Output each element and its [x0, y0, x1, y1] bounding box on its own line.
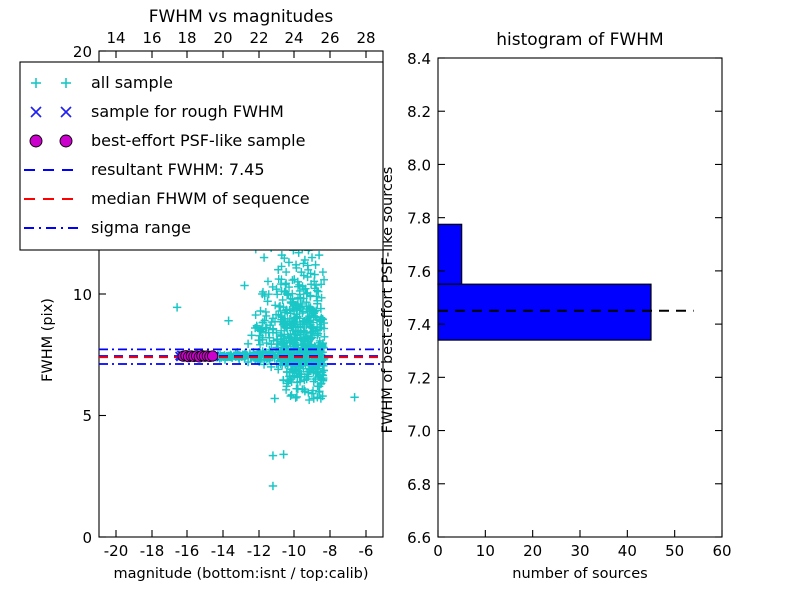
legend-box [20, 62, 383, 250]
bottom-tick-label: -6 [359, 542, 374, 560]
y-tick-label: 6.6 [407, 529, 431, 547]
legend-item-label: sigma range [91, 218, 191, 237]
top-tick-label: 16 [142, 29, 161, 47]
histogram-bar [438, 224, 462, 284]
legend-item-label: all sample [91, 73, 173, 92]
y-tick-label: 7.4 [407, 316, 431, 334]
figure-canvas: FWHM vs magnitudes 14 16 18 20 22 24 26 … [0, 0, 800, 600]
top-tick-label: 14 [106, 29, 125, 47]
top-tick-label: 24 [284, 29, 303, 47]
y-tick-label: 7.2 [407, 369, 431, 387]
y-tick-label: 8.4 [407, 50, 431, 68]
x-tick-label: 50 [665, 542, 684, 560]
top-tick-label: 20 [213, 29, 232, 47]
y-tick-label: 8.0 [407, 156, 431, 174]
bottom-tick-label: -10 [282, 542, 307, 560]
legend-item-label: resultant FWHM: 7.45 [91, 160, 265, 179]
left-panel-title: FWHM vs magnitudes [149, 7, 334, 27]
bottom-tick-label: -18 [140, 542, 165, 560]
left-x-axis-label: magnitude (bottom:isnt / top:calib) [113, 566, 368, 582]
legend-item-label: sample for rough FWHM [91, 102, 284, 121]
y-tick-label: 7.6 [407, 263, 431, 281]
y-tick-label: 8.2 [407, 103, 431, 121]
top-tick-label: 18 [177, 29, 196, 47]
right-panel-title: histogram of FWHM [496, 30, 663, 50]
y-tick-label: 10 [73, 286, 92, 304]
bottom-tick-label: -12 [247, 542, 272, 560]
y-tick-label: 0 [82, 529, 92, 547]
histogram-bar [438, 284, 651, 340]
x-tick-label: 0 [433, 542, 443, 560]
legend-item-label: best-effort PSF-like sample [91, 131, 305, 150]
top-tick-label: 26 [320, 29, 339, 47]
legend-item-label: median FHWM of sequence [91, 189, 310, 208]
x-tick-label: 30 [570, 542, 589, 560]
y-tick-label: 6.8 [407, 476, 431, 494]
bottom-tick-label: -20 [104, 542, 129, 560]
right-x-axis-label: number of sources [512, 566, 648, 582]
x-tick-label: 60 [712, 542, 731, 560]
scatter-series-psf-like [178, 351, 218, 363]
bottom-tick-label: -14 [211, 542, 236, 560]
x-tick-label: 20 [523, 542, 542, 560]
top-tick-label: 22 [249, 29, 268, 47]
x-tick-label: 40 [618, 542, 637, 560]
y-tick-label: 7.8 [407, 210, 431, 228]
y-tick-label: 5 [82, 407, 92, 425]
bottom-tick-label: -8 [323, 542, 338, 560]
top-tick-label: 28 [356, 29, 375, 47]
y-tick-label: 7.0 [407, 423, 431, 441]
left-y-axis-label: FWHM (pix) [40, 298, 56, 382]
y-tick-label: 20 [73, 43, 92, 61]
legend: all samplesample for rough FWHMbest-effo… [20, 62, 383, 250]
matplotlib-figure: FWHM vs magnitudes 14 16 18 20 22 24 26 … [0, 0, 800, 600]
bottom-tick-label: -16 [175, 542, 200, 560]
x-tick-label: 10 [476, 542, 495, 560]
